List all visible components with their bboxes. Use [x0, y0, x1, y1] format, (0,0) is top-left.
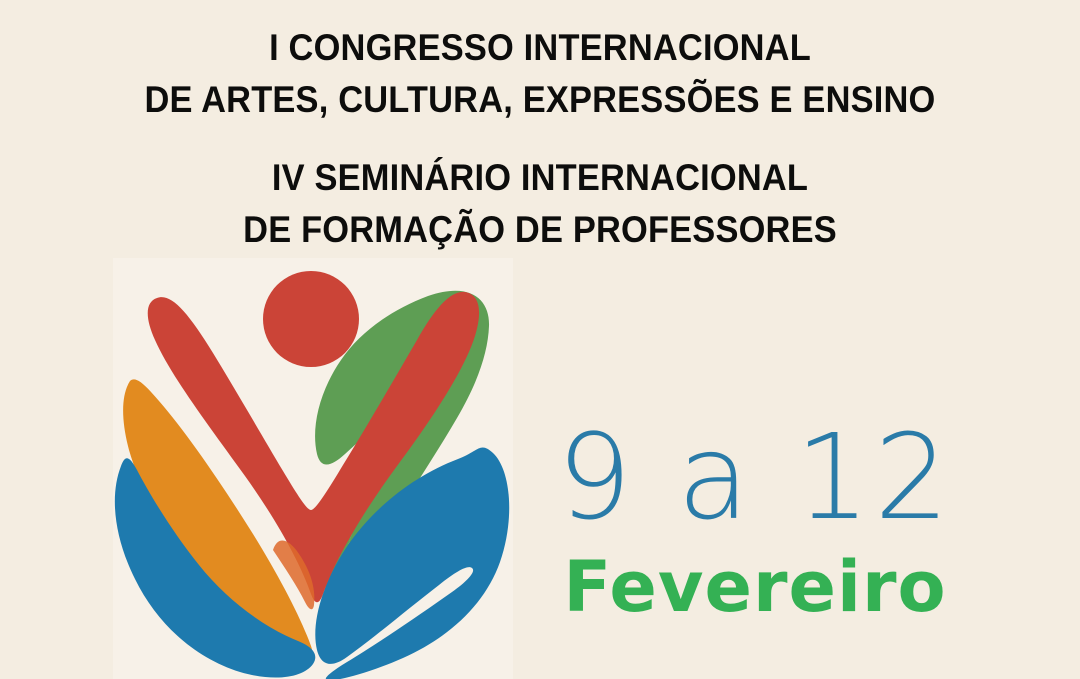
event-one-title: I CONGRESSO INTERNACIONAL DE ARTES, CULT…: [0, 22, 1080, 126]
event-one-line-1: I CONGRESSO INTERNACIONAL: [38, 22, 1042, 74]
event-one-line-2: DE ARTES, CULTURA, EXPRESSÕES E ENSINO: [38, 74, 1042, 126]
logo-image-patch: [113, 258, 513, 679]
event-two-line-2: DE FORMAÇÃO DE PROFESSORES: [38, 204, 1042, 256]
heading-block: I CONGRESSO INTERNACIONAL DE ARTES, CULT…: [0, 0, 1080, 256]
date-block: 9 a 12 Fevereiro: [540, 418, 970, 626]
red-figure-head-icon: [263, 271, 359, 367]
date-range: 9 a 12: [540, 418, 970, 536]
event-two-title: IV SEMINÁRIO INTERNACIONAL DE FORMAÇÃO D…: [0, 152, 1080, 256]
poster-canvas: I CONGRESSO INTERNACIONAL DE ARTES, CULT…: [0, 0, 1080, 679]
event-two-line-1: IV SEMINÁRIO INTERNACIONAL: [38, 152, 1042, 204]
date-month: Fevereiro: [540, 548, 970, 626]
congress-plant-figure-logo: [113, 258, 513, 679]
